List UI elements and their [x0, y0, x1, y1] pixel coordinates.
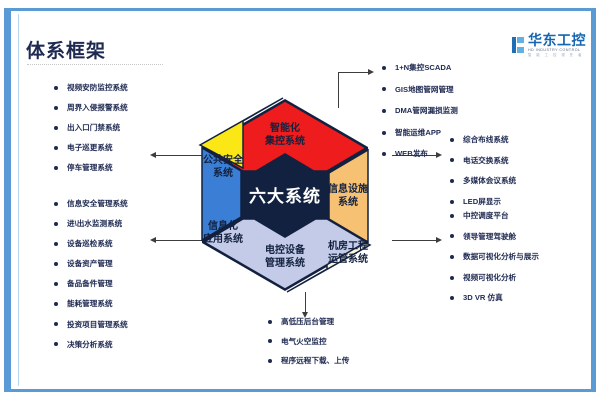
bullet-icon: [54, 86, 58, 90]
list-item-label: 高低压后台管理: [281, 318, 334, 326]
list-item[interactable]: 电话交换系统: [450, 157, 516, 165]
list-item-label: 电话交换系统: [463, 157, 509, 165]
list-item-label: 能耗管理系统: [67, 300, 113, 308]
hex-label-top-line1: 智能化: [270, 121, 300, 134]
bullet-icon: [54, 222, 58, 226]
arrowhead-equipment-room: [436, 237, 442, 243]
list-item[interactable]: 能耗管理系统: [54, 300, 128, 308]
bullet-icon: [54, 342, 58, 346]
list-item[interactable]: 高低压后台管理: [268, 318, 349, 326]
slide-canvas: 体系框架 华东工控 HD INDUSTRY CONTROL 智 能 工 控 领 …: [0, 0, 600, 400]
bullet-icon: [54, 242, 58, 246]
information-application-system-list: 信息安全管理系统进\出水监测系统设备巡检系统设备资产管理备品备件管理能耗管理系统…: [54, 200, 128, 361]
bullet-icon: [450, 214, 454, 218]
list-item-label: WEB发布: [395, 150, 428, 158]
bullet-icon: [450, 296, 454, 300]
bullet-icon: [450, 138, 454, 142]
list-item[interactable]: 综合布线系统: [450, 136, 516, 144]
bullet-icon: [268, 320, 272, 324]
list-item-label: 投资项目管理系统: [67, 321, 128, 329]
bullet-icon: [450, 179, 454, 183]
list-item-label: 中控调度平台: [463, 212, 509, 220]
bullet-icon: [382, 87, 386, 91]
bullet-icon: [450, 255, 454, 259]
company-logo: 华东工控 HD INDUSTRY CONTROL 智 能 工 控 领 先 者: [512, 33, 587, 58]
list-item-label: GIS地图管网管理: [395, 86, 454, 94]
list-item-label: 决策分析系统: [67, 341, 113, 349]
bullet-icon: [54, 282, 58, 286]
arrowhead-public-security: [150, 152, 156, 158]
list-item[interactable]: 视频安防监控系统: [54, 84, 128, 92]
list-item-label: 1+N集控SCADA: [395, 64, 451, 72]
bullet-icon: [268, 359, 272, 363]
list-item[interactable]: 停车管理系统: [54, 164, 128, 172]
hex-label-top-left-line2: 系统: [213, 166, 233, 179]
list-item-label: LED屏显示: [463, 198, 501, 206]
list-item-label: 信息安全管理系统: [67, 200, 128, 208]
list-item[interactable]: 多媒体会议系统: [450, 177, 516, 185]
equipment-room-operation-list: 中控调度平台领导管理驾驶舱数据可视化分析与展示视频可视化分析3D VR 仿真: [450, 212, 539, 315]
list-item[interactable]: LED屏显示: [450, 198, 516, 206]
logo-chinese-name: 华东工控: [528, 33, 586, 47]
list-item[interactable]: 设备巡检系统: [54, 240, 128, 248]
list-item[interactable]: 信息安全管理系统: [54, 200, 128, 208]
list-item[interactable]: 电子巡更系统: [54, 144, 128, 152]
arrowhead-info-application: [150, 237, 156, 243]
intelligent-centralized-control-list: 1+N集控SCADAGIS地图管网管理DMA管网漏损监测智能运维APPWEB发布: [382, 64, 458, 172]
six-systems-hexagon-diagram: 智能化 集控系统 信息设施 系统 机房工程 运管系统 电控设备 管理系统 信息化…: [185, 95, 385, 295]
list-item-label: DMA管网漏损监测: [395, 107, 458, 115]
list-item-label: 设备资产管理: [67, 260, 113, 268]
list-item-label: 周界入侵报警系统: [67, 104, 128, 112]
list-item-label: 多媒体会议系统: [463, 177, 516, 185]
list-item-label: 视频可视化分析: [463, 274, 516, 282]
list-item[interactable]: GIS地图管网管理: [382, 86, 458, 94]
logo-mark-icon: [512, 37, 525, 53]
list-item[interactable]: 智能运维APP: [382, 129, 458, 137]
hex-label-top-right-line2: 系统: [338, 195, 358, 208]
bullet-icon: [450, 158, 454, 162]
list-item-label: 电气火空监控: [281, 338, 327, 346]
list-item[interactable]: 1+N集控SCADA: [382, 64, 458, 72]
list-item-label: 程序远程下载、上传: [281, 357, 349, 365]
decorative-inner-line: [18, 14, 19, 386]
bullet-icon: [54, 126, 58, 130]
list-item-label: 视频安防监控系统: [67, 84, 128, 92]
hexagon-center-label: 六大系统: [249, 186, 321, 206]
list-item[interactable]: DMA管网漏损监测: [382, 107, 458, 115]
bullet-icon: [450, 276, 454, 280]
list-item-label: 设备巡检系统: [67, 240, 113, 248]
bullet-icon: [382, 131, 386, 135]
list-item[interactable]: 数据可视化分析与展示: [450, 253, 539, 261]
list-item-label: 出入口门禁系统: [67, 124, 120, 132]
list-item-label: 进\出水监测系统: [67, 220, 122, 228]
list-item-label: 智能运维APP: [395, 129, 441, 137]
public-security-system-list: 视频安防监控系统周界入侵报警系统出入口门禁系统电子巡更系统停车管理系统: [54, 84, 128, 184]
decorative-top-bar: [11, 8, 591, 11]
list-item[interactable]: 进\出水监测系统: [54, 220, 128, 228]
hex-label-bottom-line2: 管理系统: [265, 256, 305, 269]
connector-electric-control: [305, 292, 306, 314]
list-item-label: 停车管理系统: [67, 164, 113, 172]
list-item[interactable]: 中控调度平台: [450, 212, 539, 220]
list-item[interactable]: 程序远程下载、上传: [268, 357, 349, 365]
bullet-icon: [450, 234, 454, 238]
connector-scada-horizontal: [338, 72, 370, 73]
bullet-icon: [54, 106, 58, 110]
bullet-icon: [54, 202, 58, 206]
hex-label-bottom-right-line1: 机房工程: [328, 239, 368, 252]
list-item[interactable]: WEB发布: [382, 150, 458, 158]
hex-label-top-right-line1: 信息设施: [328, 182, 368, 195]
logo-tagline: 智 能 工 控 领 先 者: [528, 54, 586, 57]
list-item-label: 数据可视化分析与展示: [463, 253, 539, 261]
bullet-icon: [54, 302, 58, 306]
list-item-label: 领导管理驾驶舱: [463, 233, 516, 241]
list-item-label: 电子巡更系统: [67, 144, 113, 152]
hex-label-bottom-left-line1: 信息化: [208, 219, 238, 232]
bullet-icon: [54, 166, 58, 170]
list-item[interactable]: 设备资产管理: [54, 260, 128, 268]
page-title: 体系框架: [26, 36, 106, 63]
list-item[interactable]: 领导管理驾驶舱: [450, 233, 539, 241]
list-item[interactable]: 备品备件管理: [54, 280, 128, 288]
connector-equipment-room: [392, 240, 438, 241]
list-item[interactable]: 出入口门禁系统: [54, 124, 128, 132]
bullet-icon: [382, 109, 386, 113]
list-item[interactable]: 投资项目管理系统: [54, 321, 128, 329]
hex-label-bottom-line1: 电控设备: [265, 243, 306, 256]
electric-control-equipment-list: 高低压后台管理电气火空监控程序远程下载、上传: [268, 318, 349, 377]
list-item-label: 综合布线系统: [463, 136, 509, 144]
decorative-left-bar: [4, 8, 11, 392]
bullet-icon: [268, 339, 272, 343]
list-item[interactable]: 电气火空监控: [268, 338, 349, 346]
arrowhead-scada: [368, 69, 374, 75]
list-item[interactable]: 决策分析系统: [54, 341, 128, 349]
list-item[interactable]: 视频可视化分析: [450, 274, 539, 282]
hex-label-bottom-left-line2: 应用系统: [203, 232, 243, 245]
logo-english-name: HD INDUSTRY CONTROL: [528, 49, 586, 53]
bullet-icon: [450, 200, 454, 204]
bullet-icon: [382, 152, 386, 156]
hex-label-top-left-line1: 公共安全: [203, 153, 244, 166]
information-facility-system-list: 综合布线系统电话交换系统多媒体会议系统LED屏显示: [450, 136, 516, 218]
list-item[interactable]: 周界入侵报警系统: [54, 104, 128, 112]
bullet-icon: [54, 262, 58, 266]
title-underline: [27, 64, 163, 65]
hex-label-top-line2: 集控系统: [264, 134, 305, 147]
list-item-label: 备品备件管理: [67, 280, 113, 288]
decorative-bottom-bar: [11, 389, 591, 392]
list-item[interactable]: 3D VR 仿真: [450, 294, 539, 302]
list-item-label: 3D VR 仿真: [463, 294, 503, 302]
bullet-icon: [54, 146, 58, 150]
bullet-icon: [382, 66, 386, 70]
bullet-icon: [54, 322, 58, 326]
decorative-right-bar: [591, 8, 596, 392]
hexagon-svg: 智能化 集控系统 信息设施 系统 机房工程 运管系统 电控设备 管理系统 信息化…: [185, 95, 385, 295]
hex-label-bottom-right-line2: 运管系统: [328, 252, 368, 265]
